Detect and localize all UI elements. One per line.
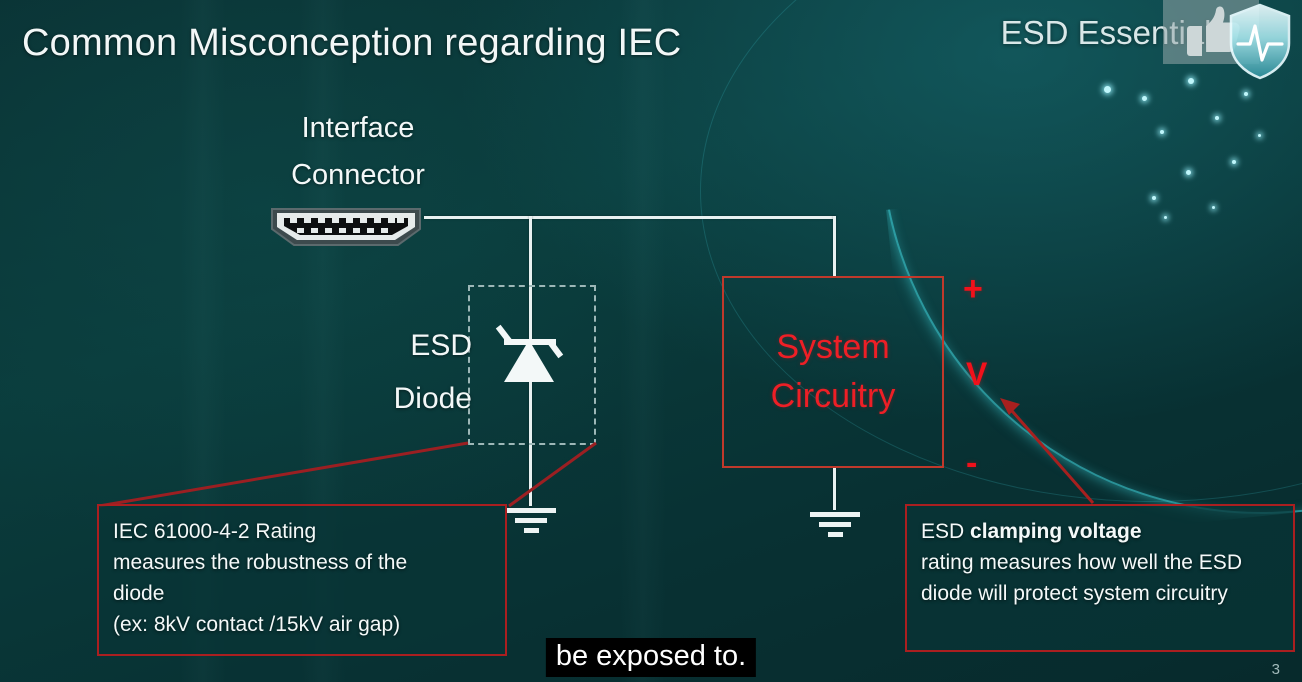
esd-diode-label-line1: ESD (410, 329, 472, 362)
bg-spark (1164, 216, 1167, 219)
bg-spark (1104, 86, 1111, 93)
callout-left-line1: IEC 61000-4-2 Rating (113, 516, 491, 547)
page-number: 3 (1272, 661, 1280, 678)
system-circuitry-line2: Circuitry (771, 372, 896, 421)
bg-spark (1160, 130, 1164, 134)
bg-spark (1232, 160, 1236, 164)
bg-spark (1152, 196, 1156, 200)
bg-spark (1212, 206, 1215, 209)
ground-symbol-icon (808, 506, 862, 540)
bg-spark (1188, 78, 1194, 84)
leader-line-left-b (509, 443, 596, 506)
bg-spark (1186, 170, 1191, 175)
callout-right-prefix: ESD (921, 520, 970, 543)
leader-arrow-right (1005, 403, 1093, 503)
interface-label-line1: Interface (302, 112, 415, 144)
bg-spark (1244, 92, 1248, 96)
minus-polarity-marker: - (966, 444, 977, 483)
bg-spark (1142, 96, 1147, 101)
leader-line-left-a (99, 443, 468, 506)
callout-iec-rating: IEC 61000-4-2 Rating measures the robust… (97, 504, 507, 656)
callout-right-body: rating measures how well the ESD diode w… (921, 551, 1242, 605)
zener-diode-icon (480, 310, 590, 400)
interface-label-line2: Connector (291, 159, 425, 191)
callout-left-line3: diode (113, 578, 491, 609)
voltage-marker: V (966, 356, 987, 393)
plus-polarity-marker: + (963, 270, 983, 309)
callout-clamping-voltage: ESD clamping voltage rating measures how… (905, 504, 1295, 652)
bg-spark (1258, 134, 1261, 137)
callout-right-bold: clamping voltage (970, 520, 1142, 543)
slide-canvas: Common Misconception regarding IEC ESD E… (0, 0, 1302, 682)
leader-arrow-head (1000, 398, 1020, 415)
system-circuitry-line1: System (776, 323, 889, 372)
page-title: Common Misconception regarding IEC (22, 22, 681, 65)
system-circuitry-box: System Circuitry (722, 276, 944, 468)
wire-system-ground (833, 466, 836, 510)
wire-system-branch (833, 216, 836, 278)
esd-diode-label-line2: Diode (394, 382, 472, 415)
wire-connector-to-node (424, 216, 836, 219)
callout-left-line4: (ex: 8kV contact /15kV air gap) (113, 609, 491, 640)
video-caption: be exposed to. (546, 638, 756, 677)
callout-left-line2: measures the robustness of the (113, 547, 491, 578)
esd-diode-label: ESD Diode (352, 320, 472, 425)
shield-pulse-icon (1226, 2, 1294, 80)
hdmi-connector-icon (266, 205, 426, 249)
interface-connector-label: Interface Connector (268, 105, 448, 199)
bg-spark (1215, 116, 1219, 120)
ground-symbol-icon (504, 502, 558, 536)
bg-stripe (620, 0, 666, 682)
